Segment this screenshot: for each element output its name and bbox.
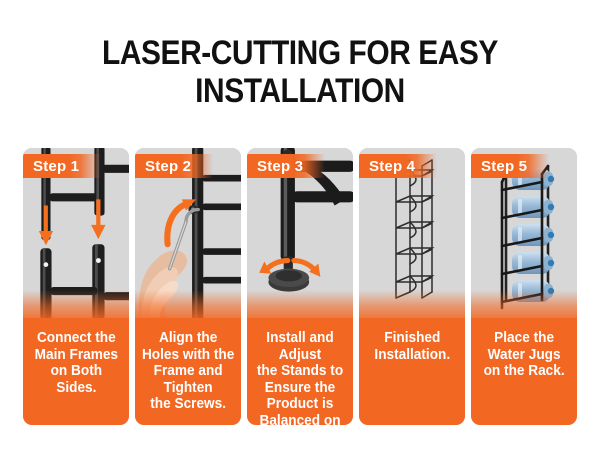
step-2-caption-text: Align the Holes with the Frame and Tight… — [142, 330, 234, 413]
step-panel-3: Step 3 Install and Adjust the Stands to … — [247, 148, 353, 425]
infographic-page: LASER-CUTTING FOR EASY INSTALLATION — [0, 0, 600, 450]
step-4-caption: Finished Installation. — [359, 318, 465, 425]
step-3-caption-text: Install and Adjust the Stands to Ensure … — [250, 330, 350, 425]
step-panel-4: Step 4 Finished Installation. — [359, 148, 465, 425]
steps-strip: Step 1 Connect the Main Frames on Both S… — [23, 148, 577, 425]
page-title-line-2: INSTALLATION — [36, 72, 564, 110]
step-panel-5: Step 5 Place the Water Jugs on the Rack. — [471, 148, 577, 425]
step-4-badge: Step 4 — [359, 154, 437, 178]
step-2-caption: Align the Holes with the Frame and Tight… — [135, 318, 241, 425]
step-3-caption: Install and Adjust the Stands to Ensure … — [247, 318, 353, 425]
step-1-caption: Connect the Main Frames on Both Sides. — [23, 318, 129, 425]
step-5-caption-text: Place the Water Jugs on the Rack. — [483, 330, 564, 380]
step-panel-2: Step 2 Align the Holes with the Frame an… — [135, 148, 241, 425]
step-3-badge: Step 3 — [247, 154, 325, 178]
step-2-badge: Step 2 — [135, 154, 213, 178]
step-panel-1: Step 1 Connect the Main Frames on Both S… — [23, 148, 129, 425]
step-5-badge: Step 5 — [471, 154, 549, 178]
step-5-caption: Place the Water Jugs on the Rack. — [471, 318, 577, 425]
step-1-caption-text: Connect the Main Frames on Both Sides. — [34, 330, 117, 396]
page-title: LASER-CUTTING FOR EASY INSTALLATION — [36, 34, 564, 110]
step-1-badge: Step 1 — [23, 154, 101, 178]
page-title-line-1: LASER-CUTTING FOR EASY — [102, 34, 498, 72]
step-4-caption-text: Finished Installation. — [374, 330, 450, 363]
